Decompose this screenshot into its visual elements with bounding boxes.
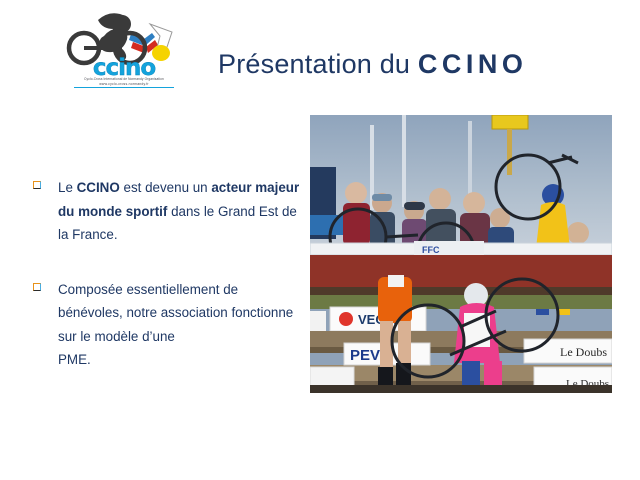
ccino-logo-url: www.cyclo-cross-normandy.fr	[60, 82, 188, 87]
page-title-prefix: Présentation du	[218, 49, 418, 80]
bullet-text-benevoles: Composée essentiellement de bénévoles, n…	[58, 282, 300, 372]
ccino-logo-tagline: Cyclo-Cross International de Normandy Or…	[60, 77, 188, 81]
list-item: Le CCINO est devenu un acteur majeur du …	[30, 176, 300, 247]
cyclist-silhouette-icon	[98, 13, 131, 60]
bullet-list: Le CCINO est devenu un acteur majeur du …	[30, 176, 300, 372]
cyclocross-race-photo: FFC VEOLIA PEVE	[310, 115, 612, 393]
slide-canvas: ccino Cyclo-Cross International de Norma…	[0, 0, 640, 480]
ccino-logo-divider	[74, 87, 174, 88]
bullet-text-acteur-majeur: Le CCINO est devenu un acteur majeur du …	[58, 180, 299, 242]
list-item: Composée essentiellement de bénévoles, n…	[30, 278, 300, 372]
page-title-emphasis: CCINO	[418, 49, 528, 80]
svg-text:Le Doubs: Le Doubs	[560, 345, 607, 359]
page-title: Présentation du CCINO	[218, 42, 527, 86]
ccino-logo: ccino Cyclo-Cross International de Norma…	[60, 6, 188, 92]
sponsor-banner-le-doubs: Le Doubs	[524, 339, 612, 363]
hollow-square-bullet-icon	[33, 283, 41, 291]
svg-text:FFC: FFC	[422, 245, 440, 255]
hollow-square-bullet-icon	[33, 181, 41, 189]
